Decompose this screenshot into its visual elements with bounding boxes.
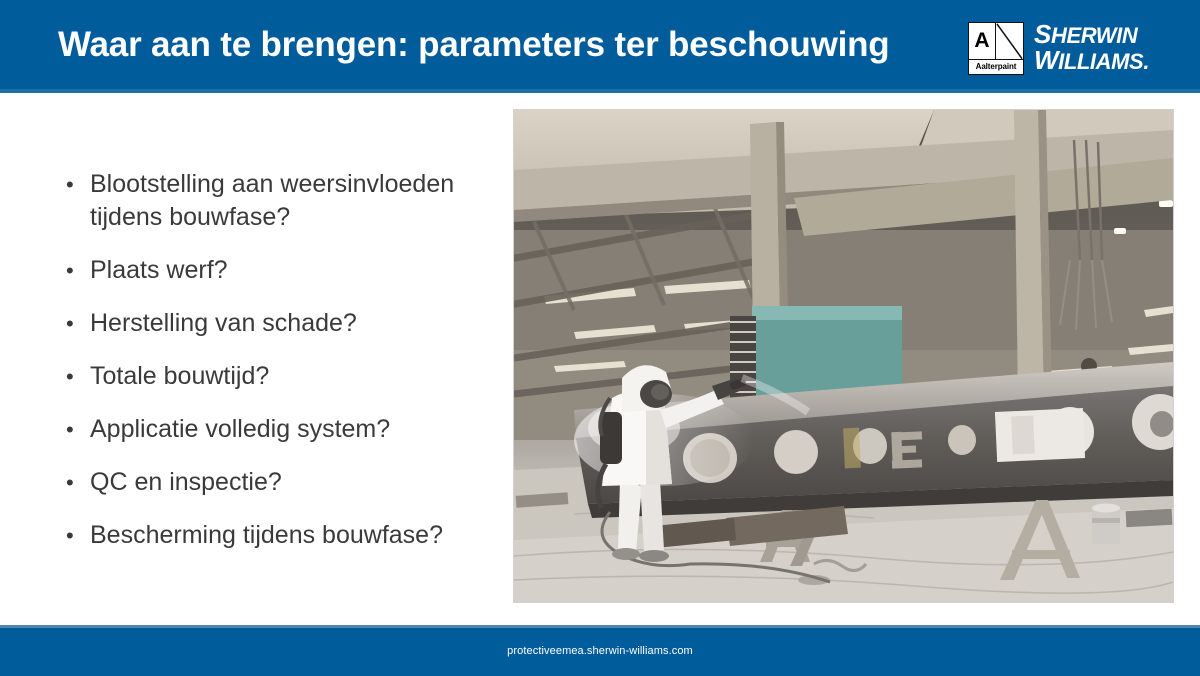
footer-band: protectiveemea.sherwin-williams.com xyxy=(0,628,1200,676)
list-item: • Totale bouwtijd? xyxy=(58,360,488,393)
wordmark-williams-rest: ILLIAMS. xyxy=(1058,49,1149,74)
bullet-icon: • xyxy=(58,168,90,201)
bullet-icon: • xyxy=(58,360,90,393)
list-item: • Blootstelling aan weersinvloeden tijde… xyxy=(58,168,488,234)
footer-url: protectiveemea.sherwin-williams.com xyxy=(0,645,1200,657)
bullet-icon: • xyxy=(58,254,90,287)
list-item: • Bescherming tijdens bouwfase? xyxy=(58,519,488,552)
list-item-label: Applicatie volledig system? xyxy=(90,413,488,446)
header-underline xyxy=(0,89,1200,93)
aalterpaint-letter-a: A xyxy=(969,23,996,60)
list-item-label: Herstelling van schade? xyxy=(90,307,488,340)
wordmark-williams-cap: W xyxy=(1034,45,1058,75)
list-item: • Applicatie volledig system? xyxy=(58,413,488,446)
aalterpaint-mark-top: A xyxy=(969,23,1023,61)
bullet-list: • Blootstelling aan weersinvloeden tijde… xyxy=(58,168,488,572)
diagonal-line-icon xyxy=(996,23,1023,60)
list-item-label: Totale bouwtijd? xyxy=(90,360,488,393)
list-item: • QC en inspectie? xyxy=(58,466,488,499)
list-item: • Herstelling van schade? xyxy=(58,307,488,340)
list-item: • Plaats werf? xyxy=(58,254,488,287)
aalterpaint-wordmark: Aalterpaint xyxy=(969,60,1023,73)
sherwin-williams-aalterpaint-logo: A Aalterpaint SHERWIN WILLIAMS. xyxy=(968,18,1173,78)
bullet-icon: • xyxy=(58,466,90,499)
list-item-label: Plaats werf? xyxy=(90,254,488,287)
aalterpaint-logo-mark: A Aalterpaint xyxy=(968,22,1024,75)
slide-title: Waar aan te brengen: parameters ter besc… xyxy=(58,22,958,70)
wordmark-line-williams: WILLIAMS. xyxy=(1034,48,1149,74)
list-item-label: QC en inspectie? xyxy=(90,466,488,499)
wordmark-sherwin-rest: HERWIN xyxy=(1051,23,1137,48)
list-item-label: Bescherming tijdens bouwfase? xyxy=(90,519,488,552)
slide: Waar aan te brengen: parameters ter besc… xyxy=(0,0,1200,676)
bullet-icon: • xyxy=(58,307,90,340)
list-item-label: Blootstelling aan weersinvloeden tijdens… xyxy=(90,168,488,234)
sherwin-williams-wordmark: SHERWIN WILLIAMS. xyxy=(1034,22,1149,74)
bullet-icon: • xyxy=(58,413,90,446)
slide-photo xyxy=(514,110,1173,602)
bullet-icon: • xyxy=(58,519,90,552)
